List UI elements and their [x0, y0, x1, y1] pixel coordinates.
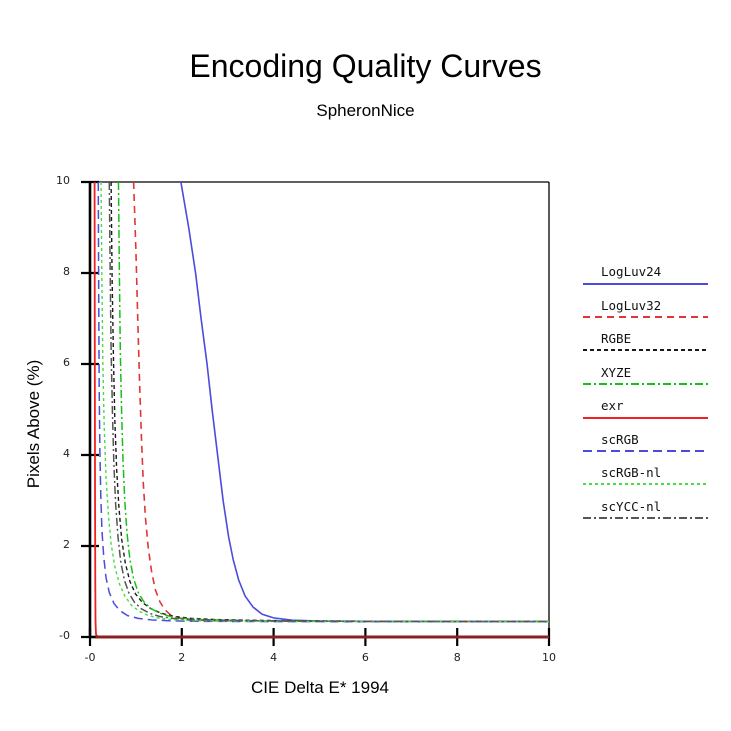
legend-swatch [583, 417, 708, 419]
y-tick-label: 8 [42, 265, 70, 278]
legend-entry[interactable]: XYZE [583, 365, 708, 399]
curves [95, 182, 549, 637]
series-line-logluv24 [181, 182, 549, 622]
x-axis-label: CIE Delta E* 1994 [90, 678, 550, 698]
legend-entry[interactable]: exr [583, 398, 708, 432]
y-tick-label: 4 [42, 447, 70, 460]
legend-label: LogLuv24 [601, 264, 661, 279]
y-tick-label: 10 [42, 174, 70, 187]
x-tick-label: 2 [162, 651, 202, 664]
series-line-rgbe [111, 182, 549, 622]
series-line-scycc-nl [109, 182, 549, 622]
legend-swatch [583, 283, 708, 285]
series-line-logluv32 [134, 182, 549, 622]
legend-label: scRGB-nl [601, 465, 661, 480]
legend: LogLuv24LogLuv32RGBEXYZEexrscRGBscRGB-nl… [583, 264, 708, 532]
legend-entry[interactable]: LogLuv32 [583, 298, 708, 332]
y-tick-label: -0 [42, 629, 70, 642]
y-tick-label: 2 [42, 538, 70, 551]
axes [81, 182, 549, 646]
chart-page: Encoding Quality Curves SpheronNice -024… [0, 0, 731, 731]
legend-label: RGBE [601, 331, 631, 346]
series-line-scrgb [98, 182, 549, 622]
legend-entry[interactable]: RGBE [583, 331, 708, 365]
series-line-xyze [118, 182, 549, 622]
x-tick-label: 4 [254, 651, 294, 664]
legend-label: scRGB [601, 432, 639, 447]
x-tick-label: 8 [437, 651, 477, 664]
legend-entry[interactable]: scYCC-nl [583, 499, 708, 533]
legend-label: scYCC-nl [601, 499, 661, 514]
series-line-scrgb-nl [101, 182, 549, 622]
legend-entry[interactable]: LogLuv24 [583, 264, 708, 298]
legend-label: XYZE [601, 365, 631, 380]
legend-label: LogLuv32 [601, 298, 661, 313]
legend-label: exr [601, 398, 624, 413]
y-axis-label: Pixels Above (%) [24, 314, 44, 534]
legend-entry[interactable]: scRGB-nl [583, 465, 708, 499]
x-tick-label: 10 [529, 651, 569, 664]
series-line-exr [95, 182, 549, 637]
legend-entry[interactable]: scRGB [583, 432, 708, 466]
x-tick-label: -0 [70, 651, 110, 664]
x-tick-label: 6 [345, 651, 385, 664]
y-tick-label: 6 [42, 356, 70, 369]
